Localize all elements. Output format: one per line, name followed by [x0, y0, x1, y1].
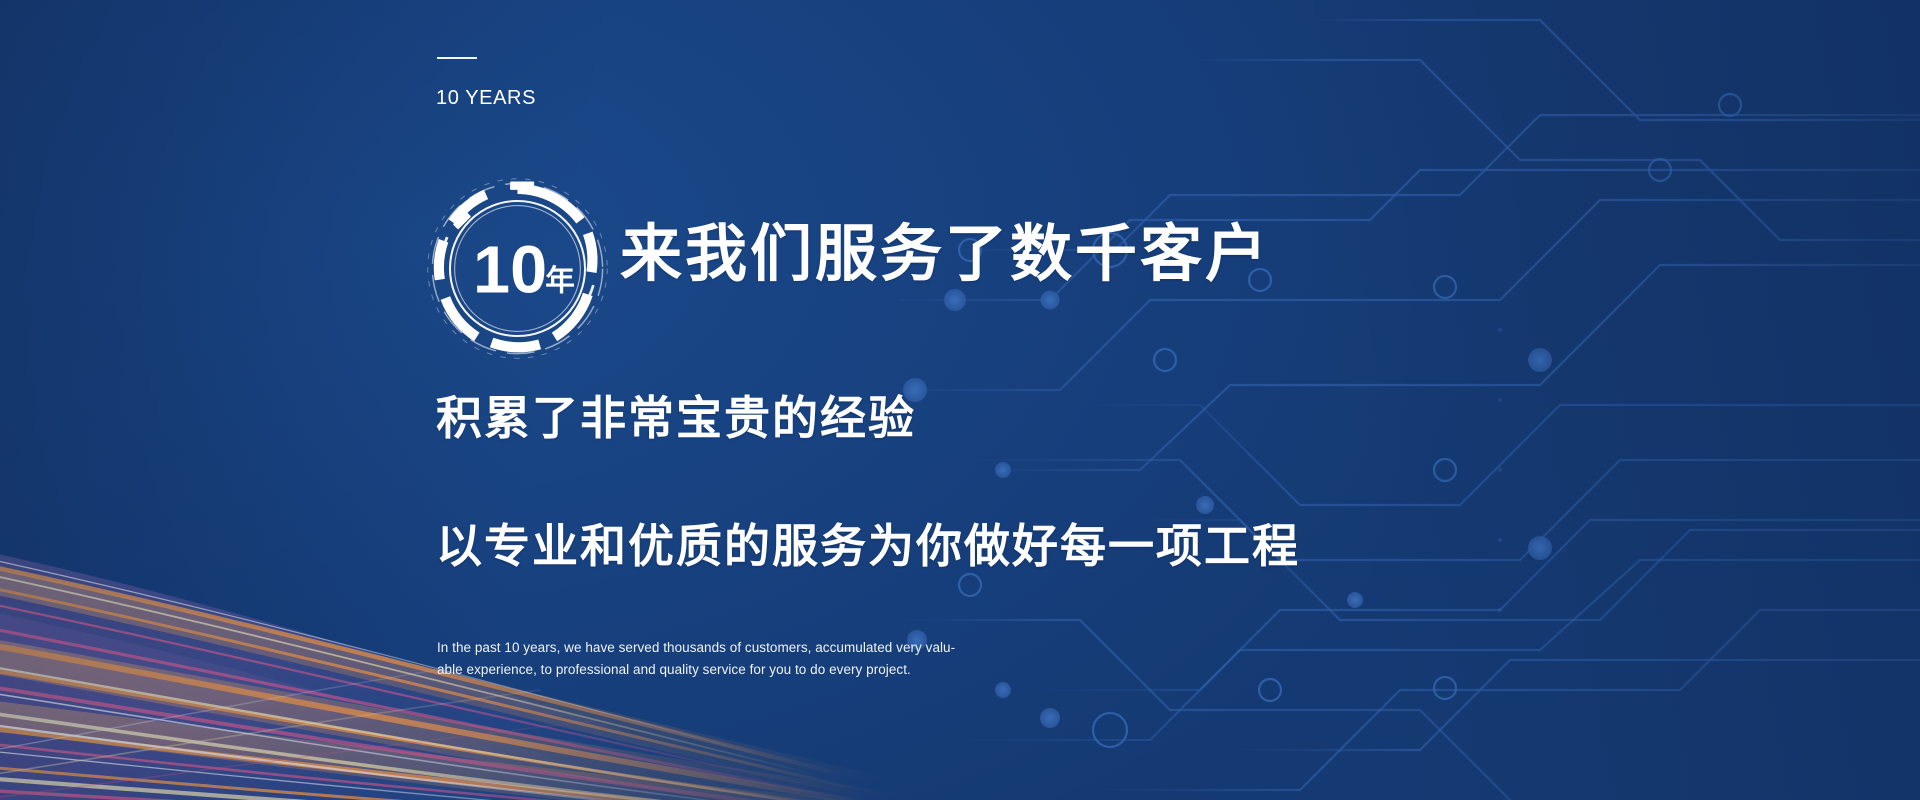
- tech-ring-badge-icon: 10 年: [425, 176, 610, 361]
- subline-experience: 积累了非常宝贵的经验: [436, 395, 916, 441]
- headline: 来我们服务了数千客户: [620, 224, 1270, 286]
- english-line-2: able experience, to professional and qua…: [437, 659, 967, 681]
- subline-service: 以专业和优质的服务为你做好每一项工程: [436, 523, 1300, 569]
- english-line-1: In the past 10 years, we have served tho…: [437, 637, 967, 659]
- eyebrow-label: 10 YEARS: [436, 87, 536, 110]
- badge-number: 10: [473, 234, 547, 308]
- banner-root: 10 YEARS: [0, 0, 1920, 800]
- content-layer: 10 YEARS: [0, 0, 1920, 800]
- badge-unit: 年: [545, 265, 575, 298]
- eyebrow-rule: [437, 57, 477, 59]
- english-paragraph: In the past 10 years, we have served tho…: [437, 637, 967, 681]
